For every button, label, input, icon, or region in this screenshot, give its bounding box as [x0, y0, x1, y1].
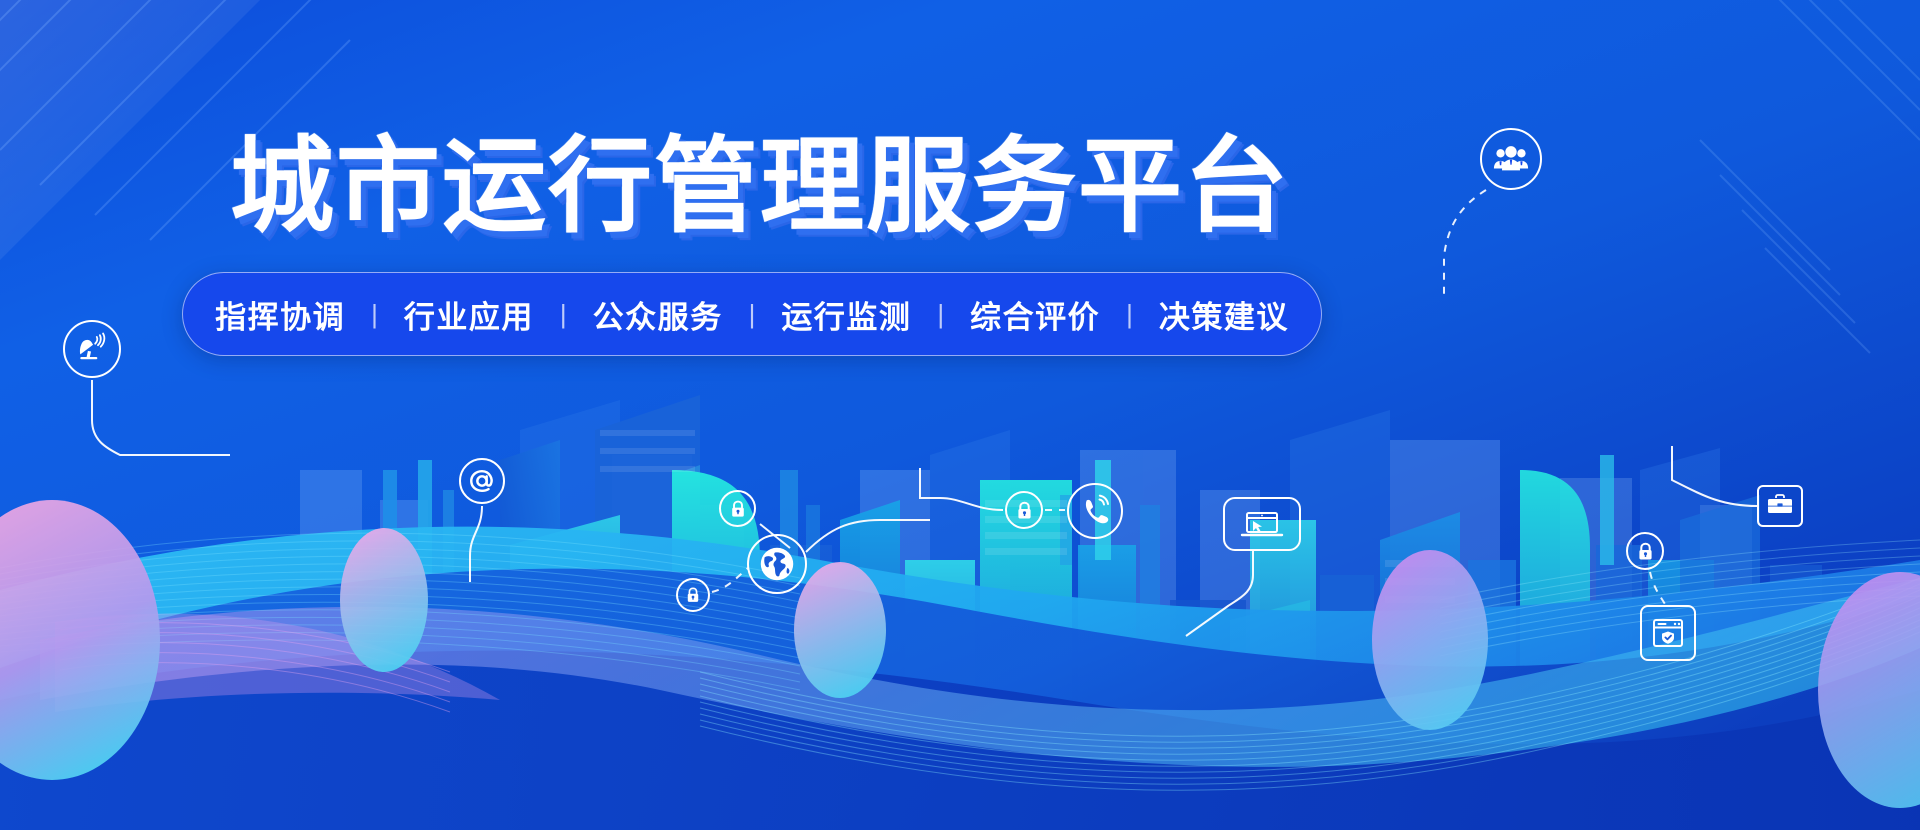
- nav-item-2[interactable]: 公众服务: [571, 292, 745, 337]
- phone-ringing-icon: [1067, 483, 1123, 539]
- briefcase-icon: [1757, 485, 1803, 527]
- nav-separator: |: [1122, 299, 1137, 330]
- ellipse-right: [1372, 550, 1488, 730]
- nav-item-5[interactable]: 决策建议: [1137, 292, 1311, 337]
- city-platform-banner: 城市运行管理服务平台 指挥协调 | 行业应用 | 公众服务 | 运行监测 | 综…: [0, 0, 1920, 830]
- nav-item-4[interactable]: 综合评价: [948, 292, 1122, 337]
- globe-icon: [747, 534, 807, 594]
- ellipse-center: [794, 562, 886, 698]
- lock-icon: [1005, 491, 1043, 529]
- ellipse-mid: [340, 528, 428, 672]
- nav-separator: |: [367, 299, 382, 330]
- nav-bar[interactable]: 指挥协调 | 行业应用 | 公众服务 | 运行监测 | 综合评价 | 决策建议: [182, 272, 1322, 356]
- at-sign-icon: [459, 458, 505, 504]
- people-group-icon: [1480, 128, 1542, 190]
- nav-item-3[interactable]: 运行监测: [759, 292, 933, 337]
- lock-icon: [719, 490, 756, 527]
- lock-icon: [1626, 532, 1664, 570]
- browser-shield-icon: [1640, 605, 1696, 661]
- laptop-cursor-icon: [1223, 497, 1301, 551]
- nav-separator: |: [933, 299, 948, 330]
- nav-separator: |: [556, 299, 571, 330]
- background-art: [0, 0, 1920, 830]
- nav-item-0[interactable]: 指挥协调: [193, 292, 367, 337]
- nav-separator: |: [745, 299, 760, 330]
- satellite-dish-icon: [63, 320, 121, 378]
- lock-icon: [676, 578, 710, 612]
- nav-item-1[interactable]: 行业应用: [382, 292, 556, 337]
